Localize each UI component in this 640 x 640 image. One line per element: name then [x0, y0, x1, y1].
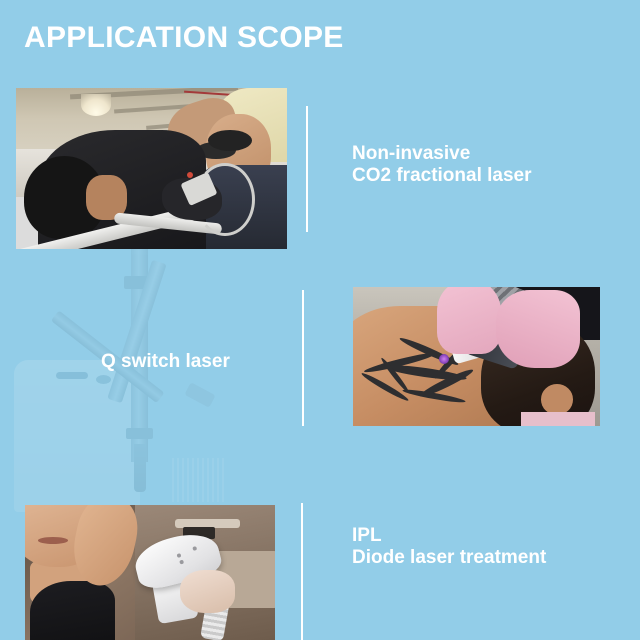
- handpiece-screw: [179, 560, 184, 565]
- divider-row-2: [302, 290, 304, 426]
- watermark-vent: [172, 458, 226, 502]
- watermark-arm-collar-top: [124, 276, 155, 289]
- page-title: APPLICATION SCOPE: [24, 18, 344, 58]
- pink-glove-left: [437, 287, 501, 354]
- divider-row-3: [301, 503, 303, 640]
- caption-q-switch: Q switch laser: [101, 351, 230, 373]
- caption-line-2: Diode laser treatment: [352, 547, 546, 569]
- client-lips: [38, 537, 68, 544]
- pink-glove-right: [496, 290, 580, 368]
- photo-q-switch-scene: [353, 287, 600, 426]
- photo-ipl-scene: [25, 505, 275, 640]
- protective-goggles: [208, 130, 251, 151]
- laser-machine-watermark: ❅: [0, 248, 300, 516]
- caption-co2-fractional: Non-invasive CO2 fractional laser: [352, 143, 532, 187]
- caption-line-1: Non-invasive: [352, 143, 532, 165]
- handpiece-screw: [176, 553, 181, 558]
- watermark-machine-knob: [96, 375, 111, 384]
- watermark-machine-body: [14, 360, 140, 512]
- caption-ipl-diode: IPL Diode laser treatment: [352, 525, 546, 569]
- handpiece-screw: [192, 546, 197, 551]
- caption-line-1: IPL: [352, 525, 546, 547]
- ceiling-lamp: [81, 94, 111, 116]
- watermark-arm-upper: [107, 260, 166, 403]
- patient-ear: [541, 384, 573, 415]
- photo-co2-fractional: [16, 88, 287, 249]
- divider-row-1: [306, 106, 308, 232]
- application-scope-poster: ❅ APPLICATION SCOPE: [0, 0, 640, 640]
- watermark-arm-collar-bottom: [126, 428, 153, 439]
- client-black-top: [30, 581, 115, 640]
- photo-ipl-diode: [25, 505, 275, 640]
- watermark-arm-tip: [134, 444, 146, 492]
- therapist-hand: [180, 570, 235, 613]
- aiming-beam-dot: [187, 172, 193, 178]
- photo-co2-scene: [16, 88, 287, 249]
- caption-line-2: CO2 fractional laser: [352, 165, 532, 187]
- treatment-towel: [521, 412, 595, 426]
- watermark-arm-joint: [184, 382, 215, 408]
- caption-line-1: Q switch laser: [101, 351, 230, 373]
- photo-q-switch: [353, 287, 600, 426]
- watermark-machine-slot: [56, 372, 88, 379]
